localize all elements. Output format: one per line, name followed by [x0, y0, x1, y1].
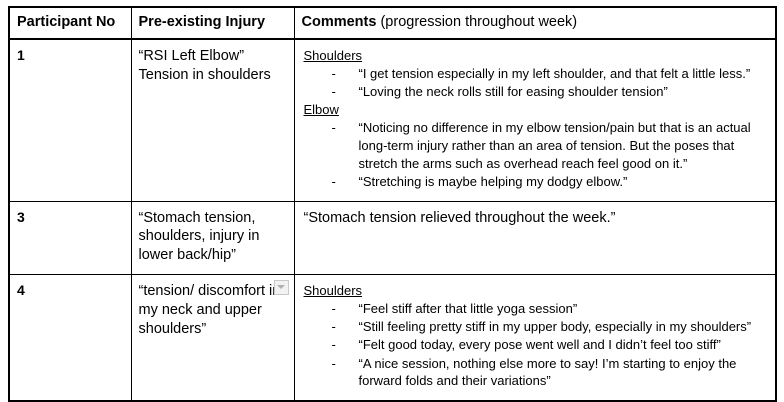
bullet-marker: -: [332, 300, 336, 318]
table-row: 3 “Stomach tension, shoulders, injury in…: [9, 201, 776, 275]
bullet-marker: -: [332, 119, 336, 137]
header-row: Participant No Pre-existing Injury Comme…: [9, 7, 776, 39]
list-item: -“Still feeling pretty stiff in my upper…: [304, 318, 769, 336]
pre-existing-injury-cell: “Stomach tension, shoulders, injury in l…: [131, 201, 294, 275]
pre-existing-injury-cell: “RSI Left Elbow” Tension in shoulders: [131, 39, 294, 201]
comments-cell: Shoulders -“Feel stiff after that little…: [294, 275, 776, 401]
pre-existing-injury-cell: “tension/ discomfort in my neck and uppe…: [131, 275, 294, 401]
bullet-marker: -: [332, 355, 336, 373]
comment-bullet-list: -“Noticing no difference in my elbow ten…: [304, 119, 769, 190]
bullet-text: “A nice session, nothing else more to sa…: [359, 356, 737, 389]
comment-bullet-list: -“I get tension especially in my left sh…: [304, 65, 769, 101]
list-item: -“A nice session, nothing else more to s…: [304, 355, 769, 390]
comments-label: Comments: [302, 14, 377, 30]
list-item: -“Feel stiff after that little yoga sess…: [304, 300, 769, 318]
bullet-text: “I get tension especially in my left sho…: [359, 66, 751, 81]
list-item: -“Stretching is maybe helping my dodgy e…: [304, 173, 769, 191]
bullet-text: “Still feeling pretty stiff in my upper …: [359, 319, 752, 334]
bullet-text: “Feel stiff after that little yoga sessi…: [359, 301, 578, 316]
participant-no-cell: 1: [9, 39, 131, 201]
document-page: Participant No Pre-existing Injury Comme…: [0, 0, 784, 401]
participant-no-cell: 3: [9, 201, 131, 275]
bullet-marker: -: [332, 336, 336, 354]
list-item: -“Loving the neck rolls still for easing…: [304, 83, 769, 101]
bullet-text: “Stretching is maybe helping my dodgy el…: [359, 174, 628, 189]
bullet-marker: -: [332, 318, 336, 336]
table-body: 1 “RSI Left Elbow” Tension in shoulders …: [9, 39, 776, 401]
table-header: Participant No Pre-existing Injury Comme…: [9, 7, 776, 39]
bullet-marker: -: [332, 65, 336, 83]
comments-cell: “Stomach tension relieved throughout the…: [294, 201, 776, 275]
column-header-pre-existing-injury: Pre-existing Injury: [131, 7, 294, 39]
bullet-marker: -: [332, 83, 336, 101]
comment-group-title: Shoulders: [304, 282, 769, 300]
bullet-marker: -: [332, 173, 336, 191]
table-row: 1 “RSI Left Elbow” Tension in shoulders …: [9, 39, 776, 201]
bullet-text: “Loving the neck rolls still for easing …: [359, 84, 668, 99]
comment-group-title: Elbow: [304, 101, 769, 119]
participant-no-cell: 4: [9, 275, 131, 401]
comment-group-title: Shoulders: [304, 47, 769, 65]
column-header-comments: Comments (progression throughout week): [294, 7, 776, 39]
injury-text: “tension/ discomfort in my neck and uppe…: [139, 283, 281, 337]
comments-cell: Shoulders -“I get tension especially in …: [294, 39, 776, 201]
bullet-text: “Felt good today, every pose went well a…: [359, 337, 721, 352]
comment-text: “Stomach tension relieved throughout the…: [304, 209, 769, 228]
participant-injury-table: Participant No Pre-existing Injury Comme…: [8, 6, 777, 402]
column-header-participant-no: Participant No: [9, 7, 131, 39]
comment-bullet-list: -“Feel stiff after that little yoga sess…: [304, 300, 769, 390]
comments-sublabel: (progression throughout week): [380, 14, 577, 30]
list-item: -“Noticing no difference in my elbow ten…: [304, 119, 769, 172]
table-row: 4 “tension/ discomfort in my neck and up…: [9, 275, 776, 401]
bullet-text: “Noticing no difference in my elbow tens…: [359, 120, 751, 170]
list-item: -“Felt good today, every pose went well …: [304, 336, 769, 354]
list-item: -“I get tension especially in my left sh…: [304, 65, 769, 83]
chevron-down-icon[interactable]: [274, 280, 289, 295]
